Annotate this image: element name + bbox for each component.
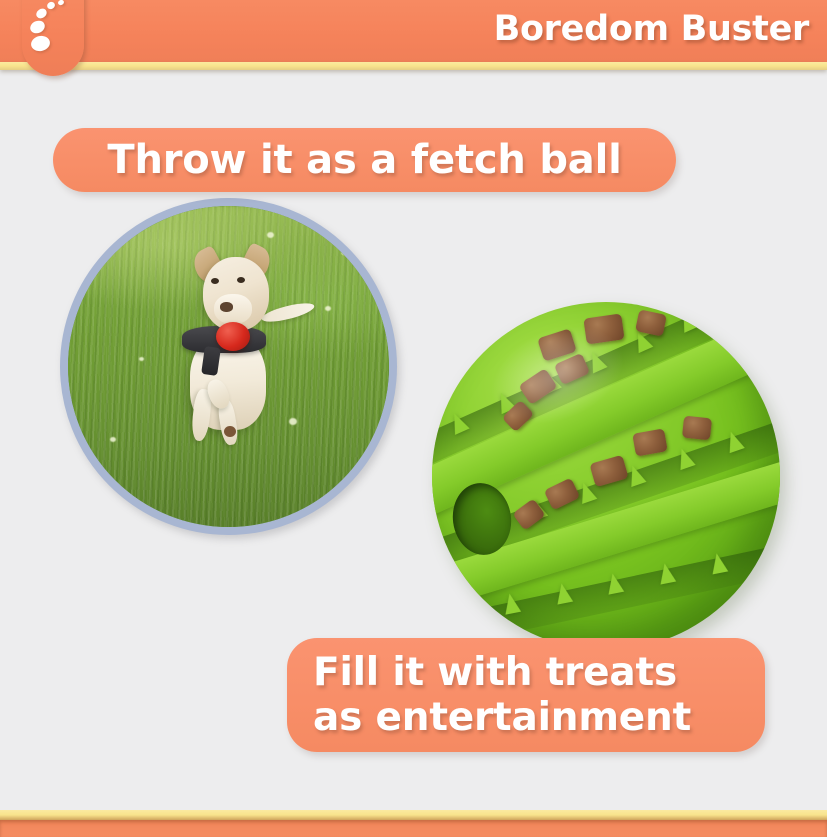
dog-paw [224,426,236,437]
ball-tooth [502,592,522,615]
ball-tooth [554,582,574,605]
ball-tooth [657,562,677,585]
ball-tooth [723,429,745,453]
photo-inner [68,206,389,527]
dog-eye-right [237,277,245,283]
paw-dot-1 [57,0,65,6]
dog-figure [68,206,389,527]
ball-tooth [674,446,696,470]
feature-banner-fetch: Throw it as a fetch ball [53,128,676,192]
ball-tooth [722,302,745,312]
ball-tooth [447,410,470,435]
green-treat-ball-product-photo [432,302,780,650]
kibble-treat [632,428,668,456]
red-ball-in-mouth [216,322,250,351]
paw-dot-5 [30,34,52,53]
dog-running-with-ball-photo [60,198,397,535]
feature-banner-treats-line-1: Fill it with treats [313,653,677,693]
product-feature-image: Boredom Buster Throw it as a fetch ball [0,0,827,837]
footer-accent-stripe [0,810,827,820]
ball-tooth [709,552,729,575]
footer-bar [0,820,827,837]
paw-dot-3 [34,7,48,21]
ball-tooth [760,542,780,565]
feature-banner-treats: Fill it with treats as entertainment [287,638,765,752]
header-accent-stripe [0,62,827,70]
ball-tooth [605,572,625,595]
ball-tooth [625,462,647,486]
paw-dot-4 [28,18,47,35]
paw-print-icon [22,0,84,76]
paw-dot-2 [46,0,56,10]
page-title: Boredom Buster [494,9,809,49]
paw-trail-logo [22,0,84,76]
feature-banner-fetch-line-1: Throw it as a fetch ball [107,140,621,181]
feature-banner-treats-line-2: as entertainment [313,698,691,738]
ball-tooth [676,308,699,333]
kibble-treat [681,415,711,440]
